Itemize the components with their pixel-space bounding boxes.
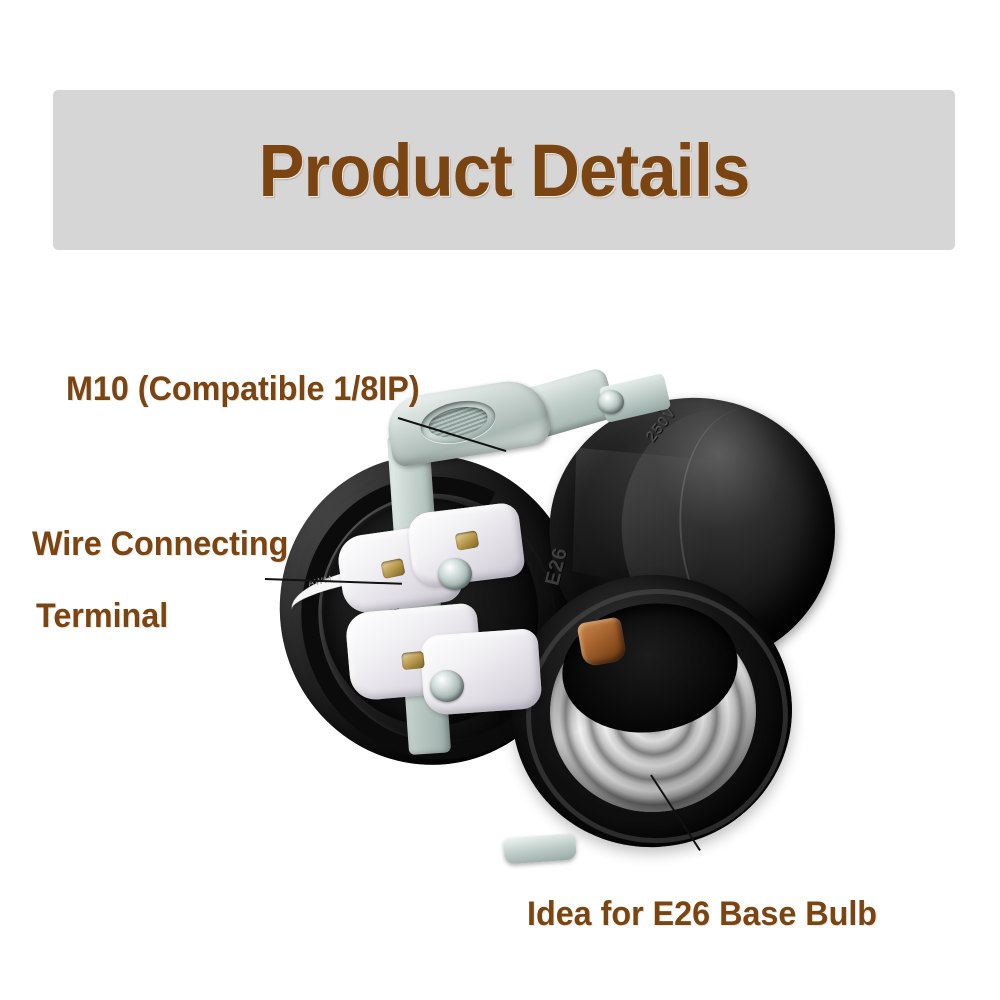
- header-banner: Product Details: [53, 90, 955, 250]
- bracket-screw-top: [598, 390, 624, 414]
- callout-label-terminal: Terminal: [36, 597, 168, 636]
- bracket-screw-middle: [438, 558, 472, 590]
- bracket-foot: [503, 834, 577, 865]
- callout-label-wire-connecting: Wire Connecting: [32, 525, 288, 564]
- product-details-page: Product Details UL 250V E26: [0, 0, 1000, 1000]
- callout-label-m10: M10 (Compatible 1/8IP): [66, 370, 420, 409]
- terminal-brass-screw-c: [401, 651, 425, 670]
- bracket-screw-bottom: [430, 670, 464, 702]
- callout-label-e26-base-bulb: Idea for E26 Base Bulb: [527, 895, 877, 934]
- product-image: UL 250V E26 AWM: [250, 380, 870, 900]
- page-title: Product Details: [85, 90, 924, 250]
